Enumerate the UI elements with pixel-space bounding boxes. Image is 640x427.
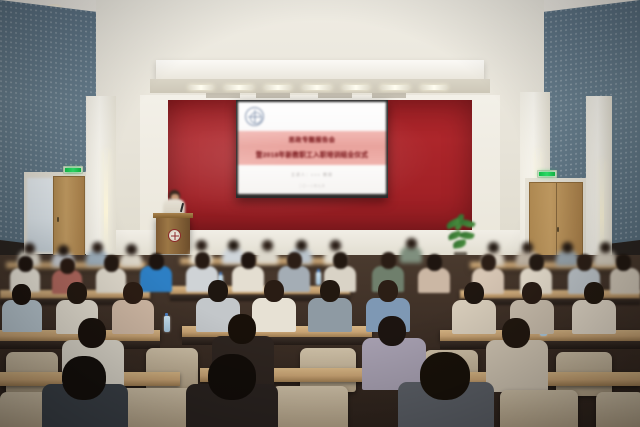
audience-head (287, 252, 302, 269)
audience-person (610, 268, 640, 294)
audience-head (406, 238, 417, 249)
ceiling-vent (318, 93, 352, 98)
audience-head (18, 256, 33, 272)
audience-head (427, 254, 442, 271)
door-open-left[interactable] (27, 178, 53, 252)
audience-head (78, 318, 106, 348)
audience-head (529, 254, 544, 271)
audience-head (381, 252, 396, 269)
audience-head (584, 282, 604, 304)
desk-front-row-3 (182, 337, 372, 345)
ceiling-vent (206, 93, 240, 98)
audience-head (24, 243, 35, 254)
podium-crest-icon (168, 229, 181, 242)
audience-person (418, 268, 450, 293)
auditorium-chair (120, 388, 194, 427)
door-left[interactable] (53, 176, 85, 256)
audience-head (12, 284, 31, 305)
audience-head (616, 254, 631, 271)
ceiling-vent (372, 93, 406, 98)
audience-head (264, 280, 284, 302)
audience-head (228, 314, 256, 344)
pillar-light-strip-left (104, 150, 108, 254)
screen-glare (238, 102, 386, 194)
audience-head (241, 252, 256, 269)
audience-head (577, 254, 592, 271)
audience-head (126, 244, 137, 255)
auditorium-chair (596, 392, 640, 427)
audience-head (262, 240, 273, 251)
audience-head-foreground (62, 356, 106, 400)
audience-person (252, 298, 296, 332)
water-bottle (316, 272, 321, 285)
audience-person (112, 300, 154, 334)
audience-head (333, 252, 348, 269)
audience-person (452, 300, 496, 334)
audience-head (58, 245, 69, 256)
projection-screen: 思政专题报告会 暨2018年新教职工入职培训结业仪式 主讲人：××× 教授 二〇… (238, 102, 386, 194)
audience-head (123, 282, 143, 304)
audience-head (60, 258, 75, 274)
exit-sign-left (63, 166, 83, 174)
audience-head (320, 280, 340, 302)
audience-head (600, 242, 611, 253)
audience-head (296, 240, 307, 251)
audience-head (378, 280, 398, 302)
audience-head (67, 282, 87, 304)
audience-head (522, 242, 533, 253)
ceiling-light-strip (186, 84, 454, 93)
auditorium-chair (500, 390, 578, 427)
audience-head (481, 254, 496, 271)
water-bottle (164, 316, 170, 332)
audience-head-foreground (420, 352, 470, 400)
audience-person (572, 300, 616, 334)
audience-head (330, 240, 341, 251)
speaker-podium (156, 216, 190, 254)
audience-head (195, 252, 210, 269)
audience-person (232, 266, 264, 292)
audience-head (92, 242, 103, 253)
audience-head (464, 282, 484, 304)
audience-head (208, 280, 228, 302)
audience-head (228, 240, 239, 251)
audience-head (562, 242, 573, 253)
wall-pillar-far-right (586, 96, 612, 266)
audience-head (104, 255, 119, 272)
audience-head (488, 242, 499, 253)
audience-head-foreground (208, 354, 256, 400)
exit-sign-right (537, 170, 557, 178)
audience-head (196, 240, 207, 251)
audience-person (308, 298, 352, 332)
door-right[interactable] (529, 182, 583, 262)
audience-head (149, 253, 164, 270)
lecture-hall-photo: 思政专题报告会 暨2018年新教职工入职培训结业仪式 主讲人：××× 教授 二〇… (0, 0, 640, 427)
wall-pillar-left (86, 96, 116, 266)
auditorium-chair (272, 386, 348, 427)
audience-head (522, 282, 542, 304)
ceiling-vent (256, 93, 290, 98)
audience-head (378, 316, 406, 346)
audience-head (502, 318, 530, 348)
